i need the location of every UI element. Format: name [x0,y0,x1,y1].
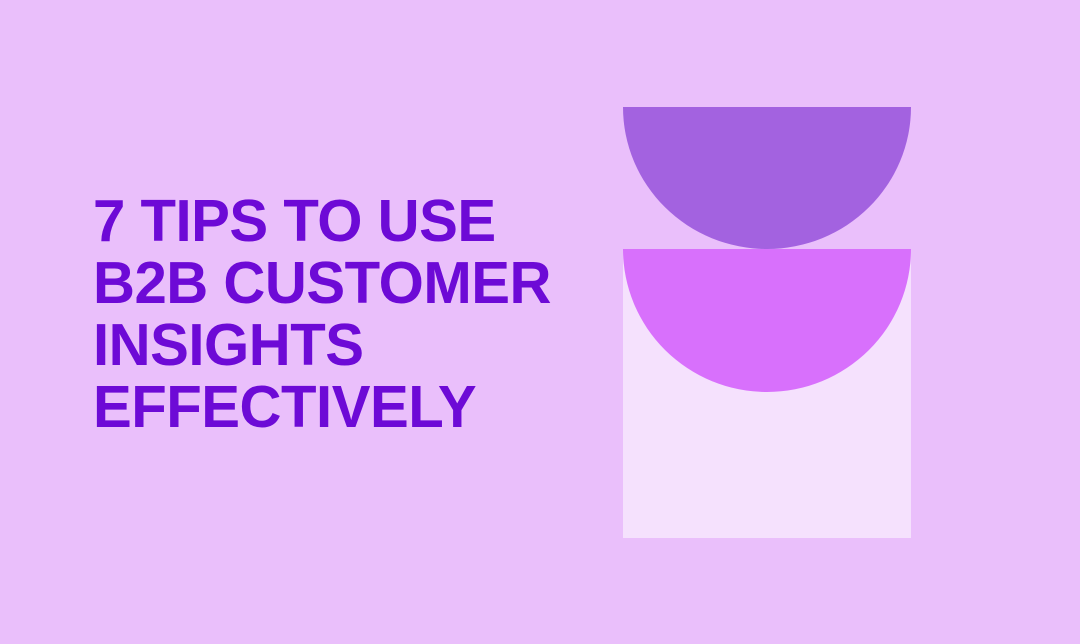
half-disc-top-shape [623,107,911,249]
headline-line-1: 7 TIPS TO USE [93,190,605,252]
poster-canvas: 7 TIPS TO USE B2B CUSTOMER INSIGHTS EFFE… [0,0,1080,644]
page-title: 7 TIPS TO USE B2B CUSTOMER INSIGHTS EFFE… [93,190,613,438]
headline-line-2: B2B CUSTOMER [93,252,605,314]
headline-line-3: INSIGHTS [93,314,605,376]
decorative-graphic [623,107,911,538]
headline-line-4: EFFECTIVELY [93,376,605,438]
